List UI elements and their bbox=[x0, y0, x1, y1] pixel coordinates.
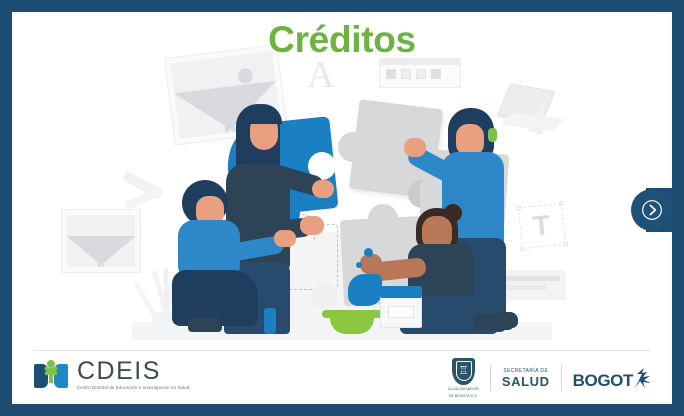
puzzle-knob-grey-bottom bbox=[368, 204, 398, 234]
slide-canvas: Créditos A bbox=[12, 12, 672, 404]
person-right-hand bbox=[404, 138, 426, 157]
puzzle-piece-icon bbox=[431, 69, 441, 79]
paint-splash-icon bbox=[348, 274, 382, 306]
secretaria-line-2: SALUD bbox=[502, 375, 550, 389]
selection-handle bbox=[563, 241, 568, 246]
puzzle-piece-icon bbox=[386, 69, 396, 79]
puzzle-piece-icon bbox=[416, 69, 426, 79]
logo-separator bbox=[490, 365, 491, 391]
plant-leaf-icon bbox=[133, 281, 157, 318]
image-placeholder-icon-small bbox=[62, 210, 140, 272]
alcaldia-mayor-logo: ♖ ALCALDÍA MAYOR DE BOGOTÁ D.C. bbox=[448, 358, 479, 398]
text-tool-selection: T bbox=[518, 203, 566, 249]
paint-drop-icon bbox=[356, 262, 362, 268]
cdeis-subtitle: Centro Distrital de Educación e Investig… bbox=[77, 384, 189, 391]
alcaldia-line-2: DE BOGOTÁ D.C. bbox=[449, 394, 478, 399]
page-title: Créditos bbox=[12, 18, 672, 62]
next-slide-button[interactable] bbox=[631, 189, 673, 231]
paint-bucket-drip-icon bbox=[380, 286, 422, 298]
green-stroke-decor bbox=[322, 310, 382, 318]
selection-handle bbox=[558, 201, 563, 206]
government-logos: ♖ ALCALDÍA MAYOR DE BOGOTÁ D.C. SECRETAR… bbox=[448, 358, 652, 398]
person-right-hair-clip bbox=[488, 128, 497, 142]
bogota-wordmark: BOGOT bbox=[573, 372, 633, 389]
presentation-slide: Créditos A bbox=[0, 0, 684, 416]
selection-handle bbox=[516, 205, 521, 210]
letter-t-icon: T bbox=[531, 210, 551, 242]
alcaldia-line-1: ALCALDÍA MAYOR bbox=[448, 387, 479, 392]
puzzle-toolbar-icon bbox=[379, 58, 461, 88]
bogota-logo: BOGOT bbox=[573, 367, 652, 389]
bogota-star-person-icon bbox=[633, 367, 652, 389]
person-crouch-hand bbox=[274, 230, 296, 247]
paint-drop-icon bbox=[364, 248, 373, 257]
person-kneel-shoe bbox=[474, 314, 514, 330]
person-left-hand-lower bbox=[300, 216, 324, 235]
bogota-coat-of-arms-icon: ♖ bbox=[452, 358, 475, 385]
chevron-right-icon bbox=[642, 200, 662, 220]
puzzle-notch-grey-bottom bbox=[312, 284, 338, 310]
cdeis-logo: CDEIS Centro Distrital de Educación e In… bbox=[34, 358, 189, 391]
person-kneel-hand bbox=[360, 254, 382, 274]
paint-bucket-label bbox=[388, 306, 414, 318]
open-book-with-person-icon bbox=[34, 360, 68, 390]
person-left-hand-upper bbox=[312, 180, 334, 198]
puzzle-knob-grey-top bbox=[338, 132, 368, 162]
logo-separator bbox=[561, 365, 562, 391]
selection-handle bbox=[520, 246, 525, 251]
cdeis-name: CDEIS bbox=[77, 358, 189, 384]
person-crouch-shoe bbox=[188, 318, 222, 332]
footer: CDEIS Centro Distrital de Educación e In… bbox=[12, 352, 672, 404]
puzzle-piece-icon bbox=[401, 69, 411, 79]
secretaria-de-salud-logo: SECRETARÍA DE SALUD bbox=[502, 368, 550, 389]
footer-divider bbox=[34, 350, 650, 351]
paint-tube-icon bbox=[264, 308, 276, 334]
